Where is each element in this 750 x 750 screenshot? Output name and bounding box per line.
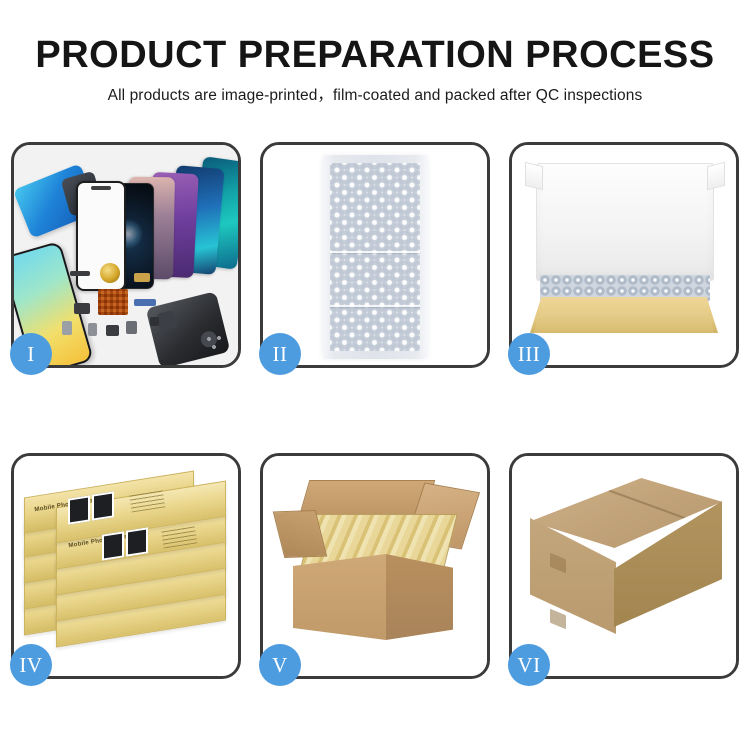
mailer-lid	[536, 163, 714, 281]
step-panel-3: III	[509, 142, 739, 368]
carton-top-seam	[556, 470, 698, 523]
page-subtitle: All products are image-printed，film-coat…	[0, 77, 750, 106]
retail-box-stack: Mobile Phone Spare Parts Mobile Phone Sp…	[22, 474, 230, 664]
process-step-grid: I II III	[11, 142, 739, 679]
step-image-phone-parts-assortment	[14, 145, 238, 365]
small-part-icon	[134, 299, 156, 306]
step-badge-2: II	[259, 333, 301, 375]
bubble-wrap-seam	[330, 305, 420, 307]
small-part-icon	[106, 325, 119, 336]
step-badge-4: IV	[10, 644, 52, 686]
box-artwork-screen	[92, 491, 114, 520]
step-panel-5: V	[260, 453, 490, 679]
step-badge-3: III	[508, 333, 550, 375]
phone-notch-icon	[91, 186, 111, 190]
small-part-icon	[70, 271, 90, 276]
open-shipping-carton	[279, 480, 475, 652]
screws-icon	[206, 335, 228, 351]
box-artwork-screen	[68, 495, 90, 524]
box-artwork-screen	[102, 531, 124, 560]
phone-back-housing	[146, 291, 231, 365]
open-mailer-box	[526, 159, 722, 339]
small-part-icon	[88, 323, 97, 336]
phone-screen-fan	[92, 157, 238, 277]
chip-array-part-icon	[98, 289, 128, 315]
box-artwork-screen	[126, 527, 148, 556]
page-header: PRODUCT PREPARATION PROCESS All products…	[0, 0, 750, 106]
bubble-pattern-icon	[330, 163, 420, 351]
step-panel-2: II	[260, 142, 490, 368]
product-preparation-process-page: PRODUCT PREPARATION PROCESS All products…	[0, 0, 750, 750]
small-part-icon	[74, 303, 90, 314]
small-part-icon	[62, 321, 72, 335]
step-badge-5: V	[259, 644, 301, 686]
step-image-carton-loading	[263, 456, 487, 676]
bubble-wrap-seam	[330, 251, 420, 253]
small-part-icon	[134, 273, 150, 282]
small-part-icon	[150, 317, 159, 326]
step-panel-4: Mobile Phone Spare Parts Mobile Phone Sp…	[11, 453, 241, 679]
step-badge-6: VI	[508, 644, 550, 686]
sealed-shipping-carton	[530, 478, 722, 654]
carton-tape-mark	[550, 609, 566, 629]
small-part-icon	[126, 321, 137, 334]
mailer-base-front	[532, 311, 716, 333]
step-badge-1: I	[10, 333, 52, 375]
step-image-stacked-retail-boxes: Mobile Phone Spare Parts Mobile Phone Sp…	[14, 456, 238, 676]
step-panel-6: VI	[509, 453, 739, 679]
step-image-bubble-wrap-packing	[263, 145, 487, 365]
step-image-inner-box-packing	[512, 145, 736, 365]
gold-coil-part-icon	[100, 263, 120, 283]
page-title: PRODUCT PREPARATION PROCESS	[0, 0, 750, 77]
carton-body	[293, 554, 453, 640]
step-image-sealed-carton	[512, 456, 736, 676]
bubble-wrap-sheet	[322, 155, 428, 359]
step-panel-1: I	[11, 142, 241, 368]
